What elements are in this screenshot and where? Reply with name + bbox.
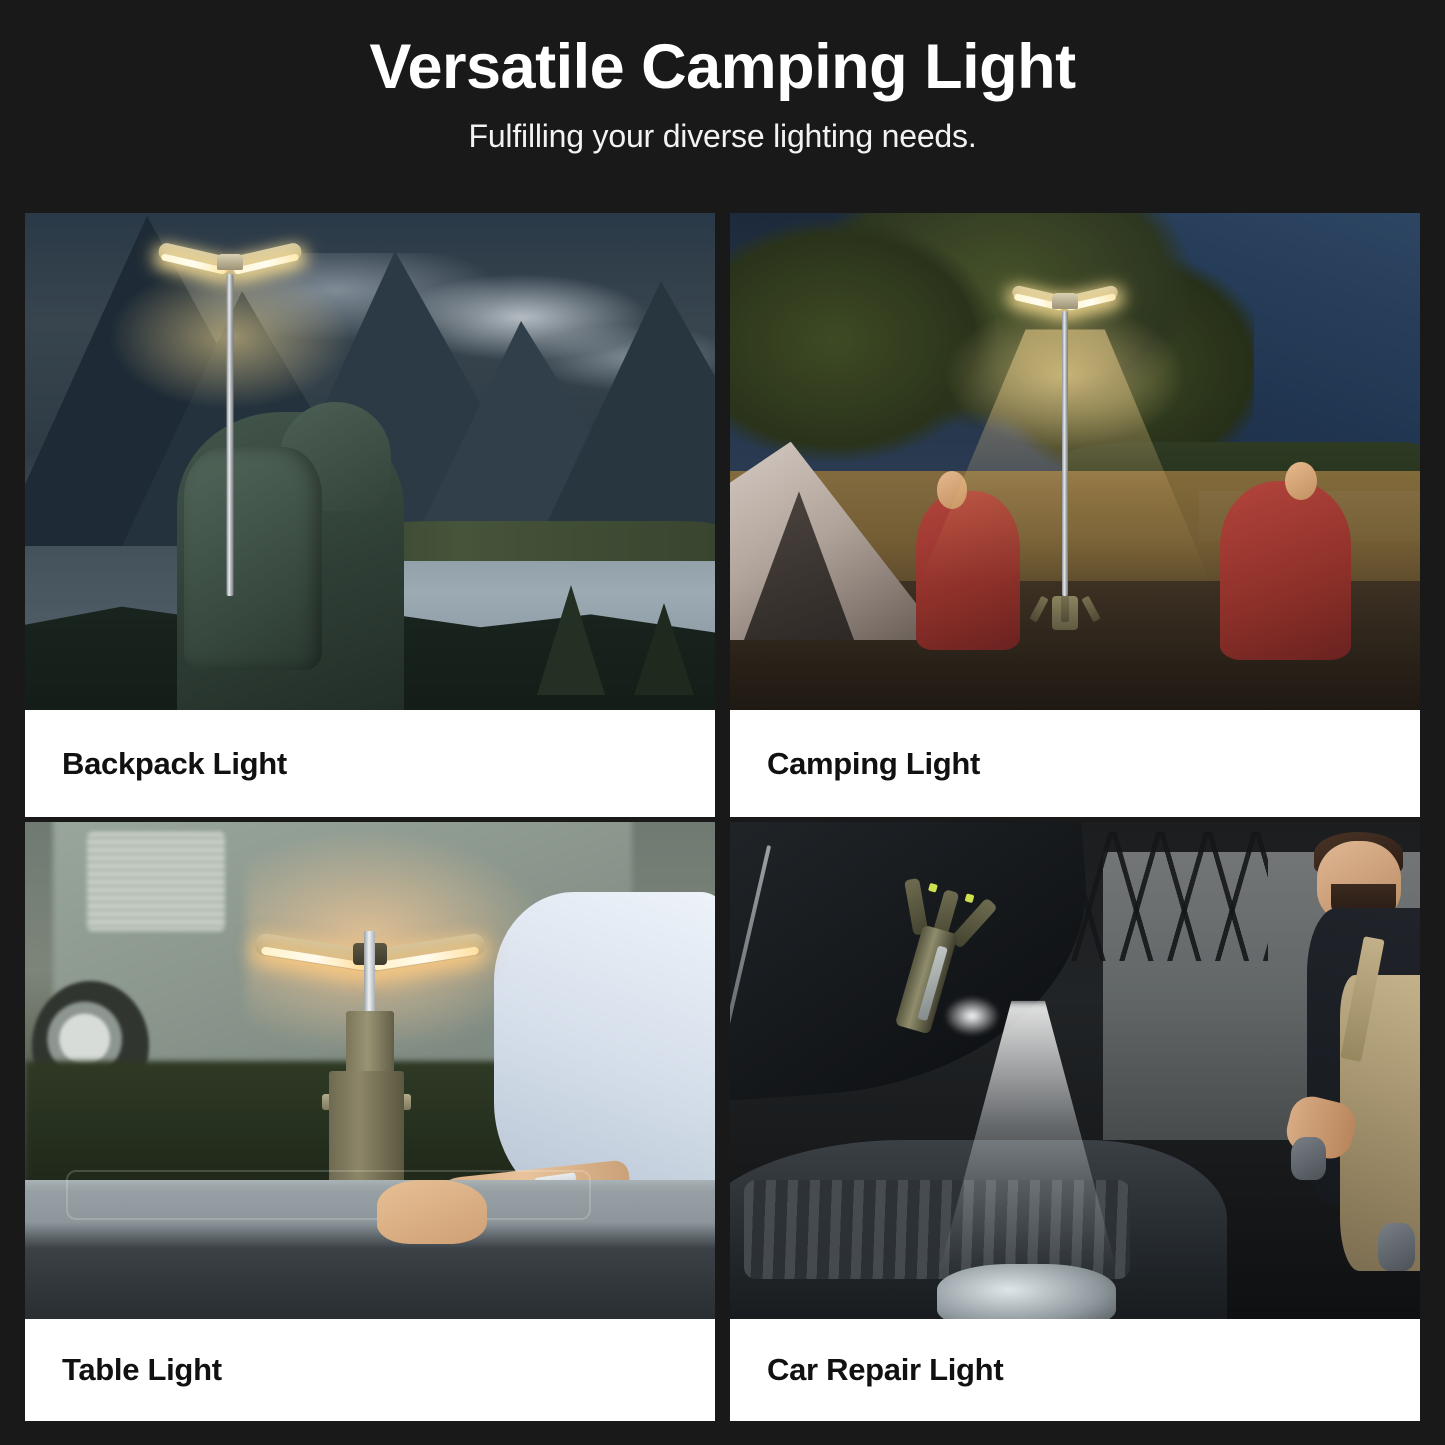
infographic-page: Versatile Camping Light Fulfilling your … bbox=[0, 0, 1445, 1445]
feature-card-table-light[interactable]: Table Light bbox=[25, 817, 715, 1421]
caption-band: Backpack Light bbox=[25, 710, 715, 817]
engine-bay bbox=[744, 1180, 1130, 1279]
telescoping-pole bbox=[364, 931, 374, 1020]
header: Versatile Camping Light Fulfilling your … bbox=[0, 0, 1445, 155]
mountain-peak bbox=[536, 281, 715, 546]
caption-band: Table Light bbox=[25, 1319, 715, 1421]
camping-lamp-upright bbox=[225, 258, 235, 596]
beam-hotspot bbox=[944, 996, 1000, 1036]
photo-camping-light bbox=[730, 213, 1420, 710]
caption-label: Backpack Light bbox=[62, 746, 287, 782]
caption-label: Car Repair Light bbox=[767, 1352, 1003, 1388]
cooler-lid-outline bbox=[66, 1170, 590, 1220]
feature-grid: Backpack Light bbox=[25, 213, 1420, 1421]
hand-adjusting-lamp bbox=[377, 1180, 487, 1245]
car-headlight bbox=[937, 1264, 1116, 1319]
photo-car-repair-light bbox=[730, 822, 1420, 1319]
caption-band: Camping Light bbox=[730, 710, 1420, 817]
feature-card-camping-light[interactable]: Camping Light bbox=[730, 213, 1420, 817]
mechanic bbox=[1199, 832, 1420, 1309]
backpack bbox=[184, 447, 322, 671]
telescoping-pole bbox=[227, 274, 234, 596]
camping-lamp-tripod bbox=[1061, 297, 1069, 595]
camper-face-left bbox=[937, 471, 967, 508]
work-glove bbox=[1291, 1137, 1326, 1180]
caption-band: Car Repair Light bbox=[730, 1319, 1420, 1421]
lamp-hub bbox=[1052, 293, 1078, 309]
page-subtitle: Fulfilling your diverse lighting needs. bbox=[0, 118, 1445, 155]
caption-label: Camping Light bbox=[767, 746, 980, 782]
feature-card-backpack-light[interactable]: Backpack Light bbox=[25, 213, 715, 817]
work-glove bbox=[1378, 1223, 1416, 1271]
rv-window bbox=[87, 832, 225, 931]
tree bbox=[537, 585, 605, 695]
photo-backpack-light bbox=[25, 213, 715, 710]
lamp-hub bbox=[217, 254, 243, 270]
camper-seated-right bbox=[1220, 481, 1351, 660]
caption-label: Table Light bbox=[62, 1352, 222, 1388]
leg-tip bbox=[964, 893, 974, 903]
photo-table-light bbox=[25, 822, 715, 1319]
leg-tip bbox=[928, 882, 938, 892]
feature-card-car-repair-light[interactable]: Car Repair Light bbox=[730, 817, 1420, 1421]
telescoping-pole bbox=[1062, 311, 1068, 595]
tripod-legs bbox=[1033, 596, 1097, 622]
tree bbox=[634, 603, 694, 695]
camper-face-right bbox=[1285, 462, 1317, 501]
page-title: Versatile Camping Light bbox=[0, 34, 1445, 100]
camper-seated-left bbox=[916, 491, 1020, 650]
